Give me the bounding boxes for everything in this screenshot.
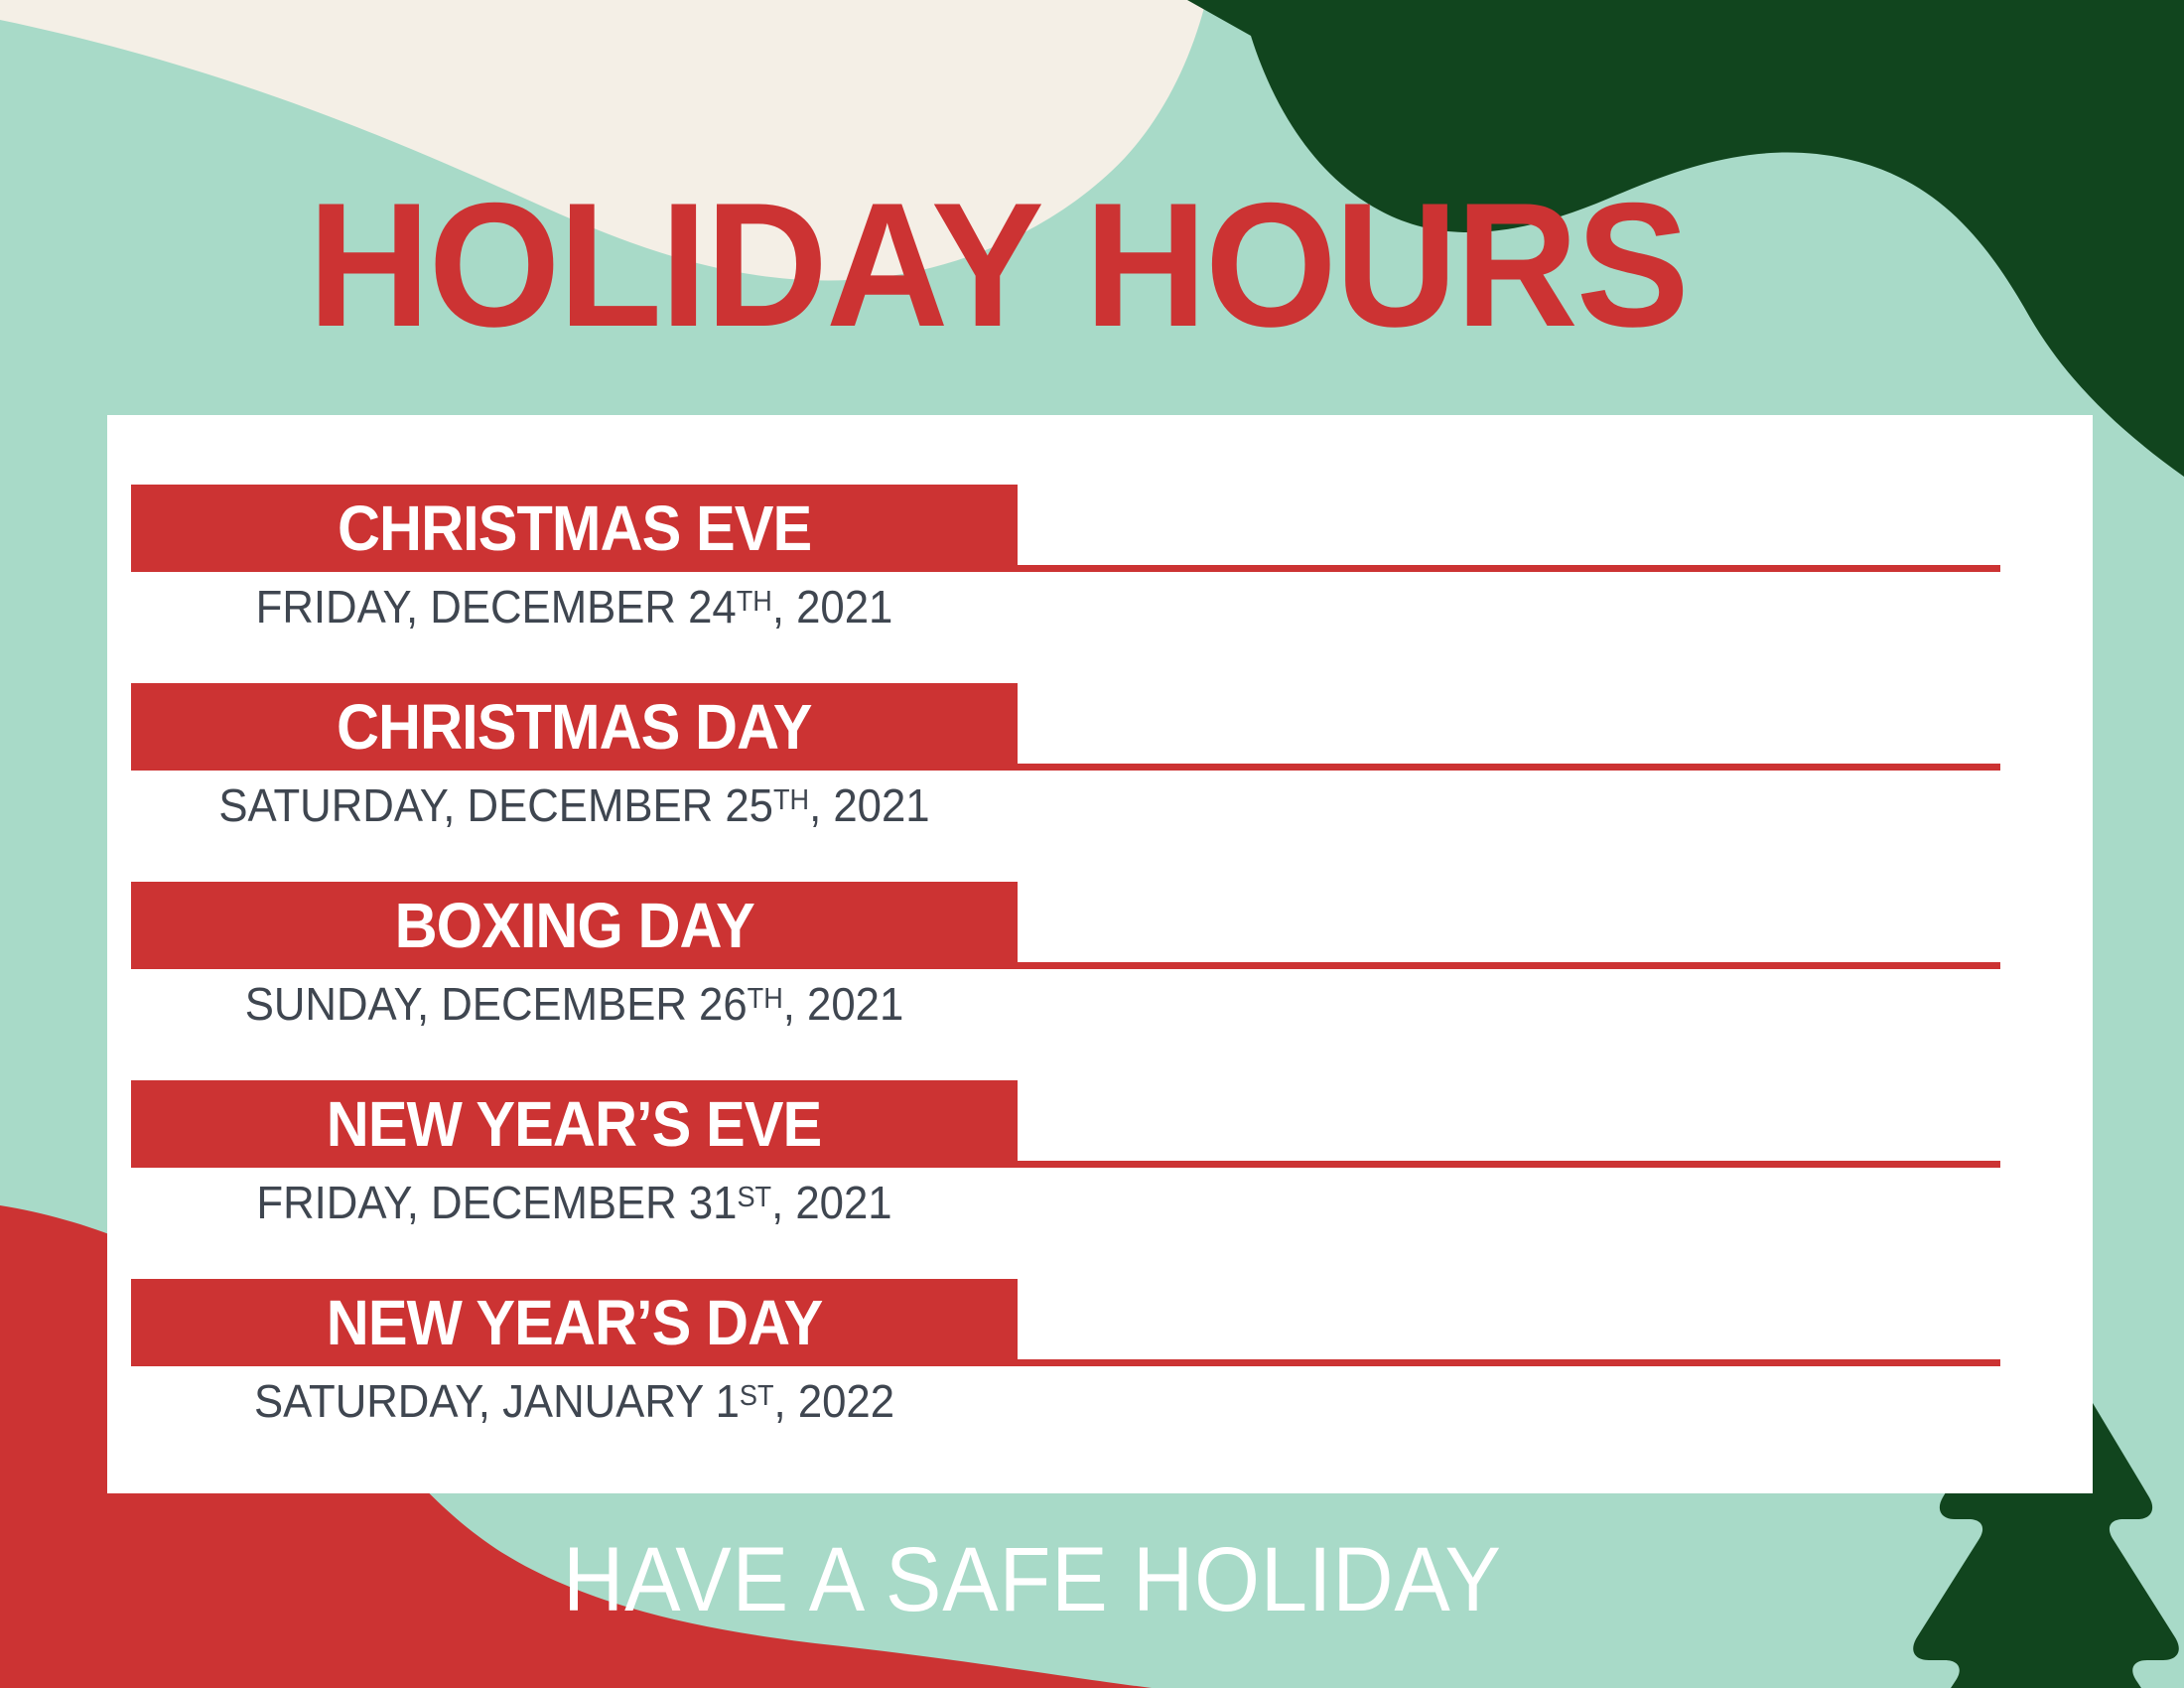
holiday-date: FRIDAY, DECEMBER 31ST, 2021 [153, 1180, 995, 1225]
holiday-date-prefix: SATURDAY, JANUARY 1 [254, 1375, 740, 1427]
holiday-name-bar: NEW YEAR’S DAY [131, 1279, 1018, 1366]
holiday-date-prefix: SUNDAY, DECEMBER 26 [245, 978, 748, 1030]
holiday-date-prefix: FRIDAY, DECEMBER 31 [256, 1177, 737, 1228]
holiday-date-ordinal: TH [748, 983, 783, 1015]
footer-message: HAVE A SAFE HOLIDAY [82, 1534, 1982, 1625]
hours-rule-line [1018, 1359, 2000, 1366]
holiday-date-suffix: , 2021 [783, 978, 904, 1030]
holiday-name-label: BOXING DAY [394, 894, 753, 957]
holiday-name-bar: NEW YEAR’S EVE [131, 1080, 1018, 1168]
table-row: BOXING DAY SUNDAY, DECEMBER 26TH, 2021 [131, 882, 2093, 1027]
holiday-date: SATURDAY, JANUARY 1ST, 2022 [153, 1378, 995, 1424]
table-row: CHRISTMAS DAY SATURDAY, DECEMBER 25TH, 2… [131, 683, 2093, 828]
hours-rule-line [1018, 565, 2000, 572]
holiday-name-label: CHRISTMAS DAY [337, 695, 811, 759]
holiday-date-ordinal: TH [773, 784, 809, 816]
holiday-date-prefix: FRIDAY, DECEMBER 24 [256, 581, 737, 633]
holiday-date-suffix: , 2022 [774, 1375, 895, 1427]
holiday-name-label: NEW YEAR’S EVE [327, 1092, 822, 1156]
holiday-date: SUNDAY, DECEMBER 26TH, 2021 [153, 981, 995, 1027]
holiday-name-bar: CHRISTMAS DAY [131, 683, 1018, 771]
holiday-name-label: NEW YEAR’S DAY [327, 1291, 823, 1354]
holiday-date-suffix: , 2021 [772, 581, 893, 633]
hours-rule-line [1018, 962, 2000, 969]
table-row: NEW YEAR’S EVE FRIDAY, DECEMBER 31ST, 20… [131, 1080, 2093, 1225]
hours-rule-line [1018, 764, 2000, 771]
holiday-date-ordinal: ST [740, 1380, 774, 1412]
hours-panel: CHRISTMAS EVE FRIDAY, DECEMBER 24TH, 202… [107, 415, 2093, 1493]
holiday-name-label: CHRISTMAS EVE [338, 496, 811, 560]
hours-rule-line [1018, 1161, 2000, 1168]
table-row: NEW YEAR’S DAY SATURDAY, JANUARY 1ST, 20… [131, 1279, 2093, 1424]
table-row: CHRISTMAS EVE FRIDAY, DECEMBER 24TH, 202… [131, 485, 2093, 630]
holiday-date-ordinal: TH [737, 586, 772, 618]
holiday-date-prefix: SATURDAY, DECEMBER 25 [218, 779, 773, 831]
holiday-date-ordinal: ST [737, 1182, 771, 1213]
holiday-date: SATURDAY, DECEMBER 25TH, 2021 [153, 782, 995, 828]
holiday-date-suffix: , 2021 [809, 779, 930, 831]
holiday-date-suffix: , 2021 [771, 1177, 892, 1228]
page-title: HOLIDAY HOURS [40, 177, 1956, 353]
holiday-date: FRIDAY, DECEMBER 24TH, 2021 [153, 584, 995, 630]
holiday-name-bar: BOXING DAY [131, 882, 1018, 969]
holiday-name-bar: CHRISTMAS EVE [131, 485, 1018, 572]
holiday-hours-poster: HOLIDAY HOURS CHRISTMAS EVE FRIDAY, DECE… [0, 0, 2184, 1688]
